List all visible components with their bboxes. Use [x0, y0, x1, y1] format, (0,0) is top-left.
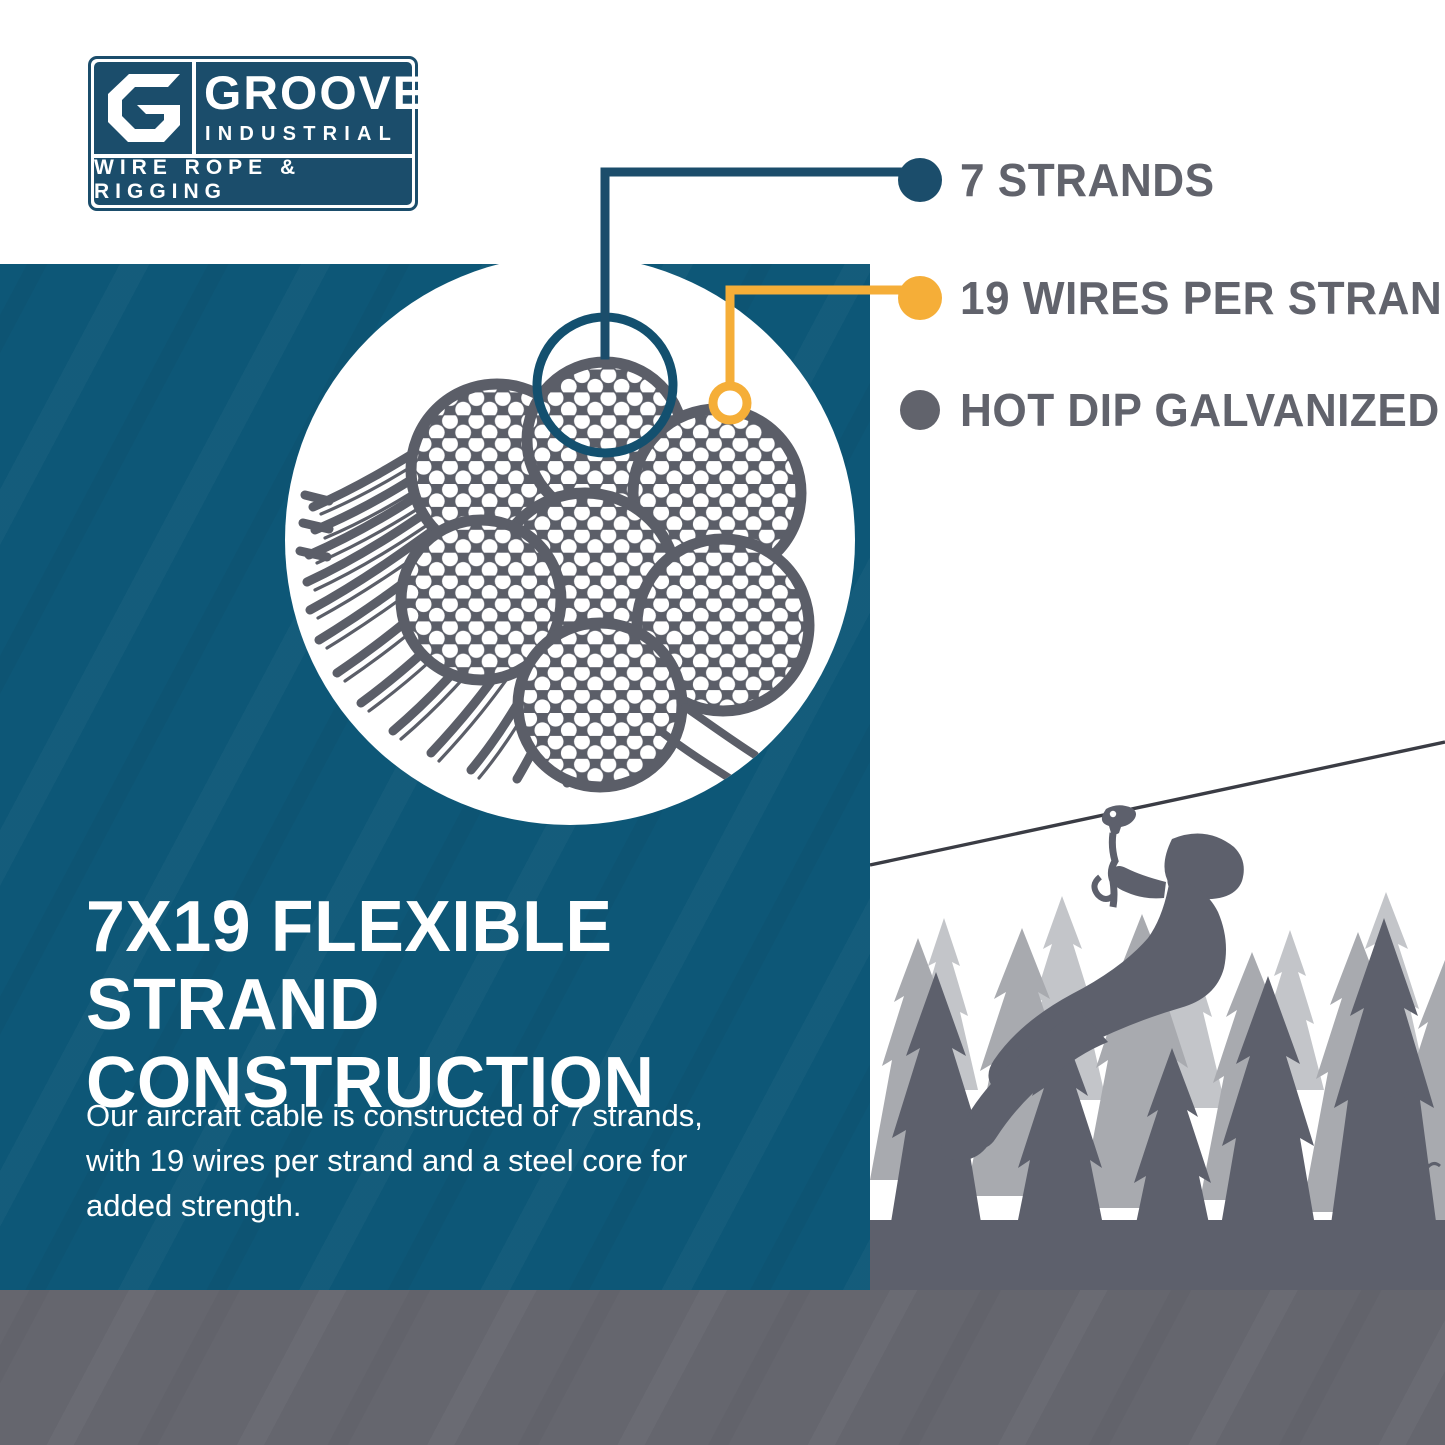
logo-wordmark: GROOVE INDUSTRIAL: [202, 70, 404, 154]
groove-g-monogram-icon: [108, 74, 186, 142]
body-paragraph: Our aircraft cable is constructed of 7 s…: [86, 1093, 746, 1228]
bottom-gray-band: [0, 1290, 1445, 1445]
callout-dot-strands: [898, 158, 942, 202]
logo-inner-plate: GROOVE INDUSTRIAL WIRE ROPE & RIGGING: [94, 62, 412, 205]
band-diagonal-texture: [0, 1290, 1445, 1445]
zipline-rider-forest-photo: [870, 660, 1445, 1290]
callout-label-strands: 7 STRANDS: [960, 157, 1215, 203]
page-title: 7X19 FLEXIBLE STRAND CONSTRUCTION: [86, 888, 823, 1122]
logo-tagline: WIRE ROPE & RIGGING: [94, 158, 412, 201]
logo-vertical-rule: [192, 62, 196, 154]
callout-label-galvanized: HOT DIP GALVANIZED: [960, 388, 1440, 432]
brand-logo: GROOVE INDUSTRIAL WIRE ROPE & RIGGING: [88, 56, 418, 211]
callout-line-wires: [730, 290, 912, 400]
logo-name: GROOVE: [204, 68, 427, 118]
infographic-page: GROOVE INDUSTRIAL WIRE ROPE & RIGGING: [0, 0, 1445, 1445]
callout-dot-wires: [898, 276, 942, 320]
callout-dot-galvanized: [900, 390, 940, 430]
callout-label-wires: 19 WIRES PER STRAND: [960, 275, 1445, 321]
headline-line-1: 7X19 FLEXIBLE: [86, 887, 612, 967]
logo-subname: INDUSTRIAL: [205, 124, 398, 144]
callout-line-strands: [605, 172, 910, 355]
callout-anchor-ring-icon: [713, 386, 747, 420]
